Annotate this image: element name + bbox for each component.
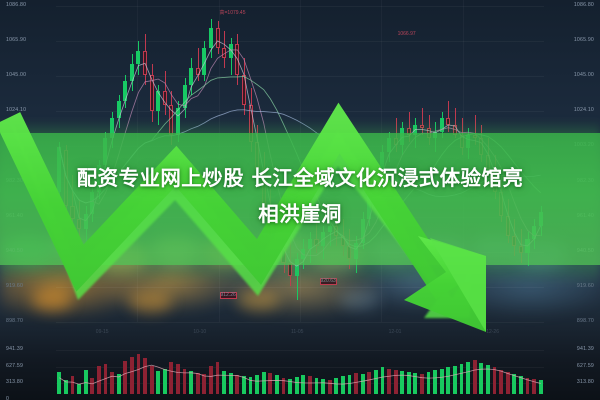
stock-chart-banner: 1086.801065.901045.001024.101003.20982.3… — [0, 0, 600, 400]
title-line-1: 配资专业网上炒股 长江全域文化沉浸式体验馆亮 — [18, 160, 582, 196]
title-line-2: 相洪崖洞 — [18, 196, 582, 232]
page-title: 配资专业网上炒股 长江全域文化沉浸式体验馆亮 相洪崖洞 — [0, 160, 600, 232]
